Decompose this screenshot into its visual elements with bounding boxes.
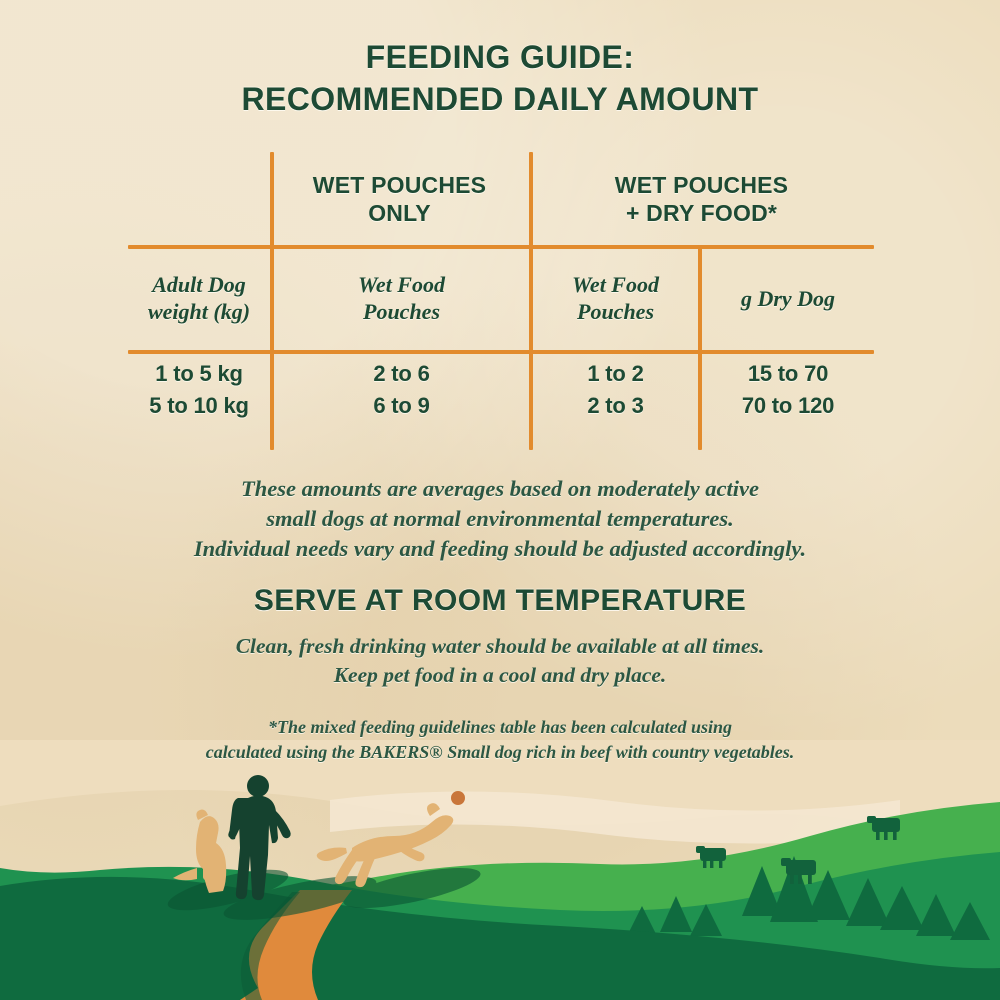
- sub-header-wet-food-pouches-mixed: Wet Food Pouches: [533, 252, 698, 346]
- cell-wet-mixed-row2-wrap: 2 to 3: [533, 390, 698, 422]
- sub-header-g-dry-dog: g Dry Dog: [702, 252, 874, 346]
- feeding-guide-table: WET POUCHES ONLY WET POUCHES + DRY FOOD*…: [128, 152, 874, 452]
- table-row: 1 to 5 kg: [128, 358, 270, 390]
- averages-note: These amounts are averages based on mode…: [0, 474, 1000, 564]
- cell-wet-only-row2-wrap: 6 to 9: [274, 390, 529, 422]
- cell-wet-only-row1: 2 to 6: [373, 358, 429, 389]
- sub-header-pouches-mixed-line1: Wet Food: [572, 272, 659, 299]
- sub-header-wet-food-pouches-only: Wet Food Pouches: [274, 252, 529, 346]
- cell-wet-only-row2: 6 to 9: [373, 390, 429, 421]
- sub-header-dry-line1: g Dry Dog: [741, 286, 835, 313]
- title-line-2: RECOMMENDED DAILY AMOUNT: [0, 78, 1000, 120]
- cell-wet-only-row1-wrap: 2 to 6: [274, 358, 529, 390]
- cell-weight-row1: 1 to 5 kg: [155, 358, 242, 389]
- group-header-wet-plus-dry-line1: WET POUCHES: [615, 172, 788, 200]
- group-header-wet-only-line2: ONLY: [368, 200, 431, 228]
- water-and-storage-note: Clean, fresh drinking water should be av…: [0, 632, 1000, 690]
- footnote-line-1: *The mixed feeding guidelines table has …: [0, 715, 1000, 740]
- cell-wet-mixed-row2: 2 to 3: [587, 390, 643, 421]
- serve-at-room-temperature-heading: SERVE AT ROOM TEMPERATURE: [0, 584, 1000, 618]
- footnote-line-2: calculated using the BAKERS® Small dog r…: [0, 740, 1000, 765]
- sub-header-pouches-mixed-line2: Pouches: [577, 299, 654, 326]
- averages-line-2: small dogs at normal environmental tempe…: [0, 504, 1000, 534]
- water-line-1: Clean, fresh drinking water should be av…: [0, 632, 1000, 661]
- sub-header-pouches-only-line1: Wet Food: [358, 272, 445, 299]
- cell-weight-row2: 5 to 10 kg: [149, 390, 248, 421]
- footnote: *The mixed feeding guidelines table has …: [0, 715, 1000, 765]
- table-row: 5 to 10 kg: [128, 390, 270, 422]
- cell-dry-row1: 15 to 70: [748, 358, 828, 389]
- cell-dry-row2: 70 to 120: [742, 390, 834, 421]
- group-header-wet-plus-dry: WET POUCHES + DRY FOOD*: [529, 160, 874, 240]
- table-rule-middle: [128, 350, 874, 354]
- sub-header-weight-line2: weight (kg): [148, 299, 250, 326]
- cell-wet-mixed-row1-wrap: 1 to 2: [533, 358, 698, 390]
- group-header-wet-only-line1: WET POUCHES: [313, 172, 486, 200]
- sub-header-pouches-only-line2: Pouches: [363, 299, 440, 326]
- cell-dry-row1-wrap: 15 to 70: [702, 358, 874, 390]
- cell-dry-row2-wrap: 70 to 120: [702, 390, 874, 422]
- sub-header-weight-line1: Adult Dog: [152, 272, 246, 299]
- water-line-2: Keep pet food in a cool and dry place.: [0, 661, 1000, 690]
- group-header-wet-only: WET POUCHES ONLY: [270, 160, 529, 240]
- title-line-1: FEEDING GUIDE:: [0, 36, 1000, 78]
- cell-wet-mixed-row1: 1 to 2: [587, 358, 643, 389]
- table-rule-top: [128, 245, 874, 249]
- page-title: FEEDING GUIDE: RECOMMENDED DAILY AMOUNT: [0, 36, 1000, 120]
- averages-line-1: These amounts are averages based on mode…: [0, 474, 1000, 504]
- averages-line-3: Individual needs vary and feeding should…: [0, 534, 1000, 564]
- group-header-wet-plus-dry-line2: + DRY FOOD*: [626, 200, 777, 228]
- sub-header-adult-dog-weight: Adult Dog weight (kg): [128, 252, 270, 346]
